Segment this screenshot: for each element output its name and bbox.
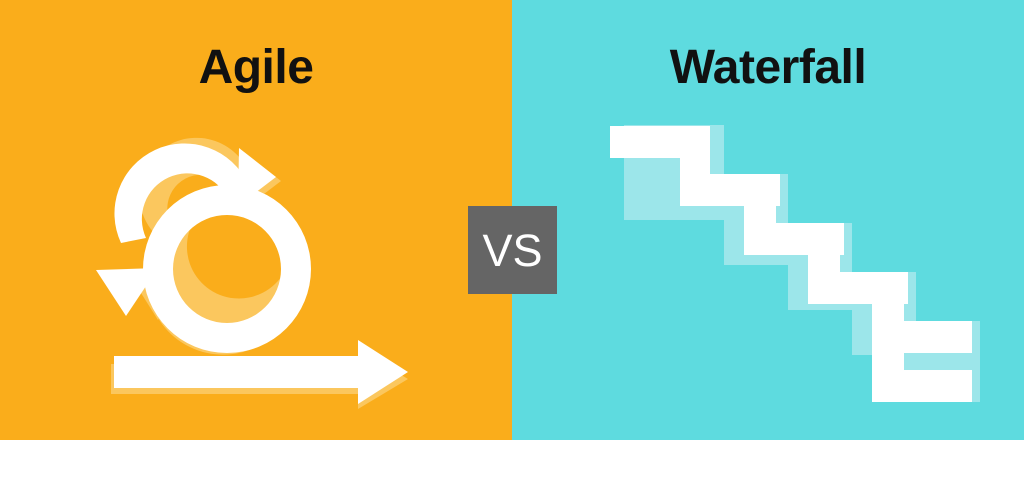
page-title-agile: Agile [0, 44, 512, 92]
vs-badge: VS [468, 206, 557, 294]
agile-sprint-loop-icon [96, 118, 426, 420]
comparison-banner: Agile Waterfall [0, 0, 1024, 500]
page-title-waterfall: Waterfall [512, 44, 1024, 92]
footer-bar: InterviewBit [0, 440, 1024, 500]
vs-label: VS [482, 228, 542, 273]
waterfall-staircase-icon [596, 110, 996, 422]
